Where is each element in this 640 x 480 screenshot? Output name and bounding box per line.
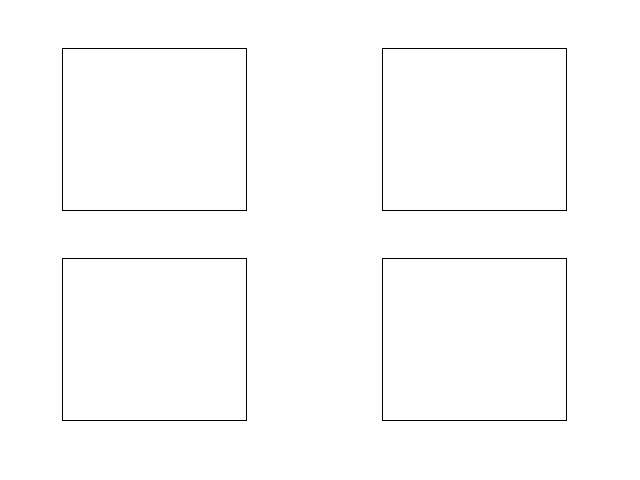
panel-plot3 — [320, 240, 640, 480]
colorbar-ticks-plot1 — [320, 0, 640, 240]
panel-plot2 — [0, 240, 320, 480]
colorbar-ticks-plot3 — [320, 240, 640, 480]
panel-plot0 — [0, 0, 320, 240]
ticks-plot2 — [0, 240, 320, 480]
colorbar-ticks-plot0 — [0, 0, 320, 240]
panel-plot1 — [320, 0, 640, 240]
